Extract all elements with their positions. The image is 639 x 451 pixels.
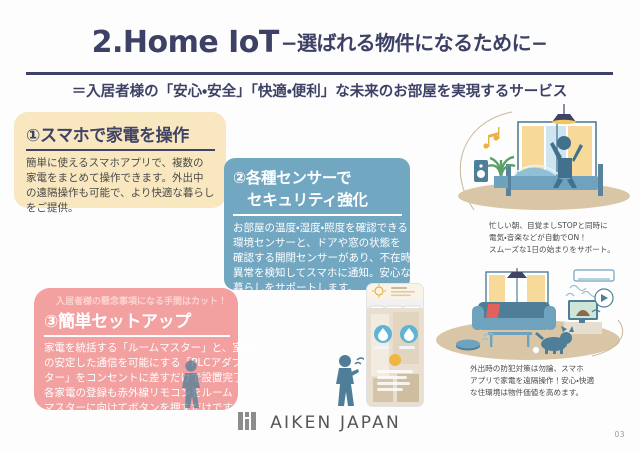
person-with-phone-silhouette-icon <box>330 352 364 408</box>
panel-1-body-line: の遠隔操作も可能で、より快適な暮らし <box>26 186 215 201</box>
title-underline <box>26 72 613 75</box>
note-morning-routine: 忙しい朝、目覚ましSTOPと同時に 電気・音楽などが自動でON！ スムーズな1日… <box>489 220 615 256</box>
note-line: な住環境は物件価値を高めます。 <box>470 387 594 399</box>
panel-2-divider <box>233 214 402 216</box>
panel-easy-setup: 入居者様の懸念事項になる手間はカット！ ③簡単セットアップ 家電を統括する「ルー… <box>34 288 238 410</box>
panel-1-body-line: 簡単に使えるスマホアプリで、複数の <box>26 156 215 171</box>
panel-2-heading-line1: ②各種センサーで <box>233 169 351 187</box>
note-line: 電気・音楽などが自動でON！ <box>489 232 615 244</box>
panel-3-kicker: 入居者様の懸念事項になる手間はカット！ <box>44 294 230 307</box>
title-subtext: −選ばれる物件になるために− <box>281 26 548 60</box>
panel-1-heading: ①スマホで家電を操作 <box>26 121 215 146</box>
panel-2-body-line: お部屋の温度・湿度・照度を確認できる <box>233 221 402 236</box>
brand-name: AIKEN JAPAN <box>270 413 401 433</box>
panel-1-body: 簡単に使えるスマホアプリで、複数の 家電をまとめて操作できます。外出中 の遠隔操… <box>26 156 215 216</box>
note-line: アプリで家電を遠隔操作！安心・快適 <box>470 375 594 387</box>
panel-1-body-line: 家電をまとめて操作できます。外出中 <box>26 171 215 186</box>
panel-2-body-line: 環境センサーと、ドアや窓の状態を <box>233 236 402 251</box>
building-mark-icon <box>238 412 256 434</box>
smartphone-app-mockup <box>366 283 424 407</box>
phone-room-photo <box>367 308 423 406</box>
panel-3-divider <box>44 335 230 337</box>
page-subtitle: ＝入居者様の「安心・安全」「快適・便利」な未来のお部屋を実現するサービス <box>0 80 639 101</box>
panel-sensors-security: ②各種センサーで セキュリティ強化 お部屋の温度・湿度・照度を確認できる 環境セ… <box>224 158 410 290</box>
phone-status-bar <box>367 284 423 299</box>
panel-3-heading: ③簡単セットアップ <box>44 307 230 332</box>
panel-2-body-line: 異常を検知してスマホに通知。安心な <box>233 266 402 281</box>
note-line: 忙しい朝、目覚ましSTOPと同時に <box>489 220 615 232</box>
footer-brand: AIKEN JAPAN <box>0 412 639 434</box>
note-security-value: 外出時の防犯対策は勿論、スマホ アプリで家電を遠隔操作！安心・快適 な住環境は物… <box>470 363 594 399</box>
panel-3-body-line: 家電を統括する「ルームマスター」と、室内 <box>44 341 230 356</box>
page-number: 03 <box>614 430 625 439</box>
panel-1-body-line: をご提供。 <box>26 201 215 216</box>
living-room-illustration <box>432 268 632 364</box>
note-line: 外出時の防犯対策は勿論、スマホ <box>470 363 594 375</box>
title-main: 2.Home IoT <box>92 26 279 60</box>
panel-2-heading: ②各種センサーで セキュリティ強化 <box>233 166 402 210</box>
panel-smartphone-control: ①スマホで家電を操作 簡単に使えるスマホアプリで、複数の 家電をまとめて操作でき… <box>14 112 226 208</box>
bedroom-wakeup-illustration <box>452 104 637 216</box>
panel-2-heading-line2: セキュリティ強化 <box>233 188 402 210</box>
panel-1-divider <box>26 149 215 151</box>
person-silhouette-icon <box>178 358 206 410</box>
panel-2-body-line: 確認する開閉センサーがあり、不在時の <box>233 251 402 266</box>
page-title: 2.Home IoT−選ばれる物件になるために− <box>0 26 639 60</box>
note-line: スムーズな1日の始まりをサポート。 <box>489 244 615 256</box>
slide-root: 2.Home IoT−選ばれる物件になるために− ＝入居者様の「安心・安全」「快… <box>0 0 639 451</box>
